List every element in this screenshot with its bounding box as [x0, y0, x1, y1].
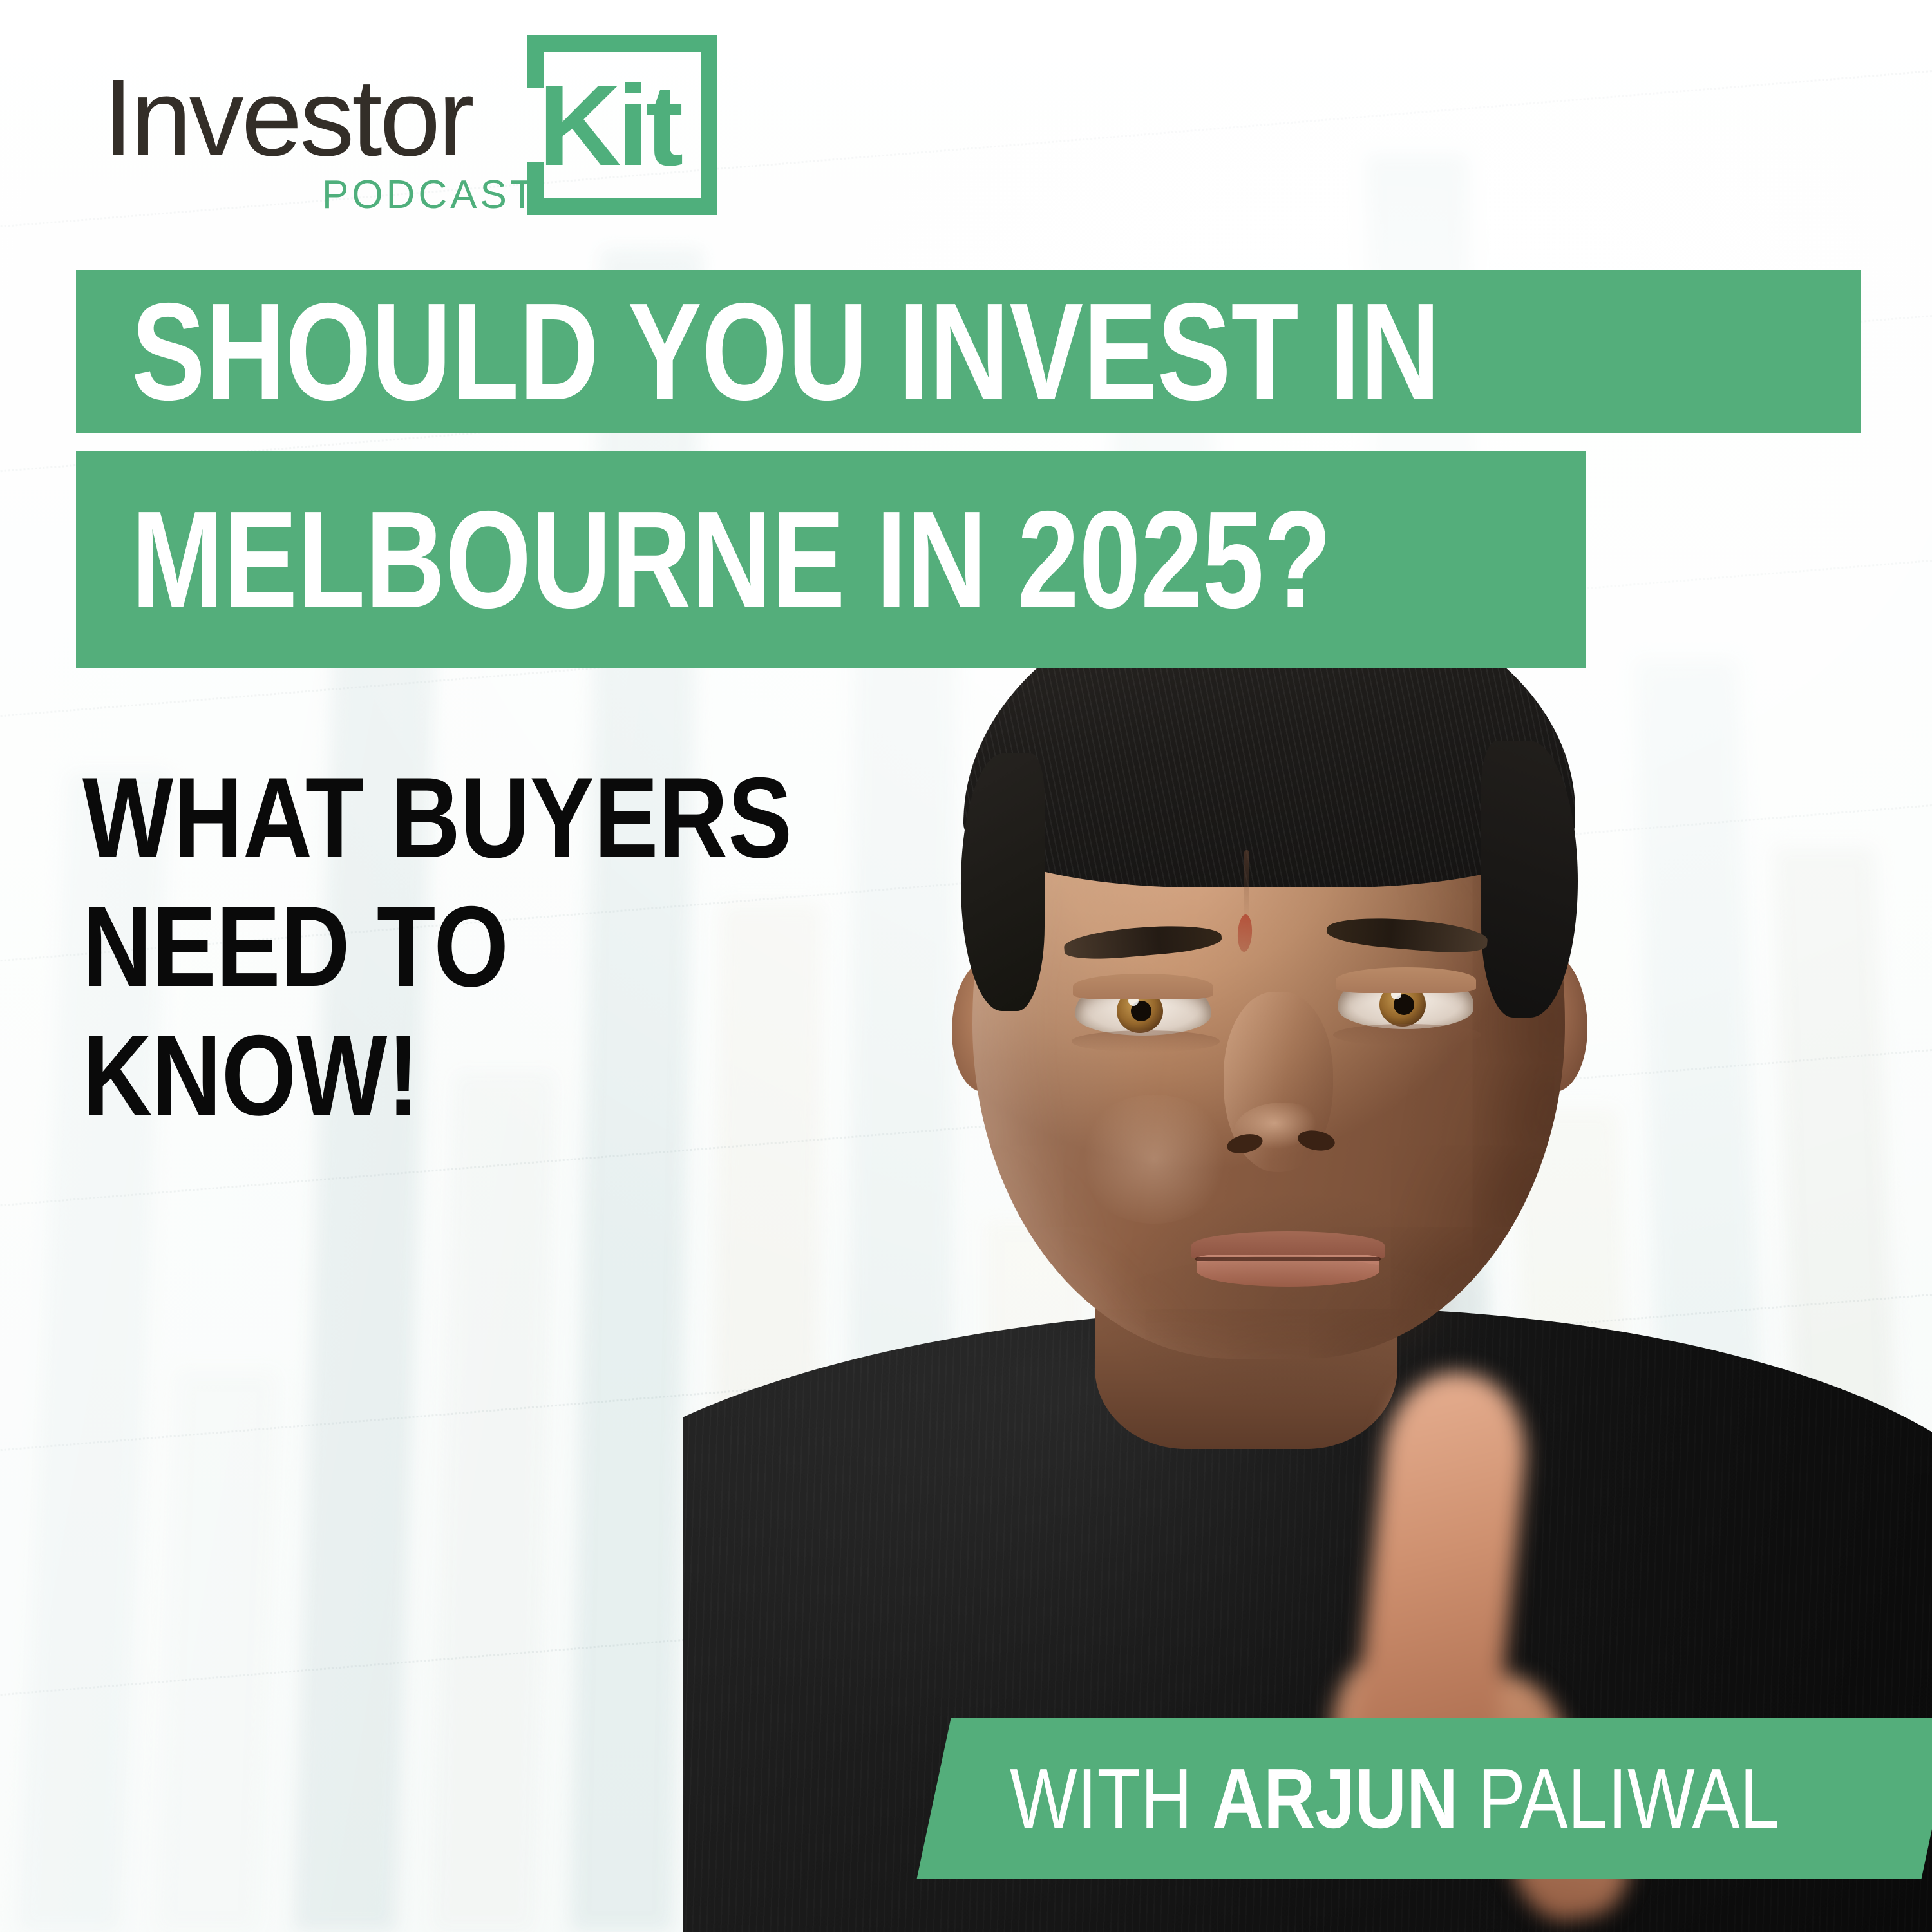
eyelid-left: [1073, 974, 1213, 999]
host-prefix: WITH: [1010, 1751, 1212, 1846]
frame-bottom-edge: [527, 198, 717, 215]
frame-top-edge: [527, 35, 717, 52]
eye-right: [1338, 974, 1473, 1029]
brand-logo[interactable]: Investor PODCAST Kit: [103, 58, 683, 206]
host-banner-inner: WITH ARJUN PALIWAL: [934, 1718, 1932, 1879]
forehead-crease: [1244, 850, 1249, 921]
frame-right-edge: [701, 35, 717, 215]
host-credit-text: WITH ARJUN PALIWAL: [1010, 1756, 1779, 1841]
title-bar-line-1: SHOULD YOU INVEST IN: [76, 270, 1861, 433]
host-first-name: ARJUN: [1212, 1751, 1458, 1846]
host-last-name: PALIWAL: [1458, 1751, 1779, 1846]
subtitle-block: WHAT BUYERS NEED TO KNOW!: [82, 753, 1048, 1140]
title-line-2-text: MELBOURNE IN 2025?: [131, 480, 1332, 639]
logo-tagline-podcast: PODCAST: [322, 175, 538, 215]
title-bar-line-2: MELBOURNE IN 2025?: [76, 451, 1586, 668]
podcast-cover: Investor PODCAST Kit: [0, 0, 1932, 1932]
eye-left: [1075, 980, 1211, 1036]
subtitle-line-1: WHAT BUYERS: [82, 753, 894, 882]
logo-wordmark-kit: Kit: [538, 68, 679, 183]
subtitle-line-3: KNOW!: [82, 1011, 894, 1140]
title-line-1-text: SHOULD YOU INVEST IN: [131, 272, 1440, 431]
hair-side-right: [1481, 741, 1578, 1018]
subtitle-line-2: NEED TO: [82, 882, 894, 1011]
eyelid-right: [1336, 967, 1476, 993]
under-eye-left: [1072, 1030, 1220, 1052]
host-name-banner: WITH ARJUN PALIWAL: [916, 1718, 1932, 1879]
logo-wordmark-investor: Investor: [103, 63, 472, 173]
under-eye-right: [1333, 1024, 1481, 1046]
logo-kit-frame-icon: Kit: [527, 35, 717, 215]
